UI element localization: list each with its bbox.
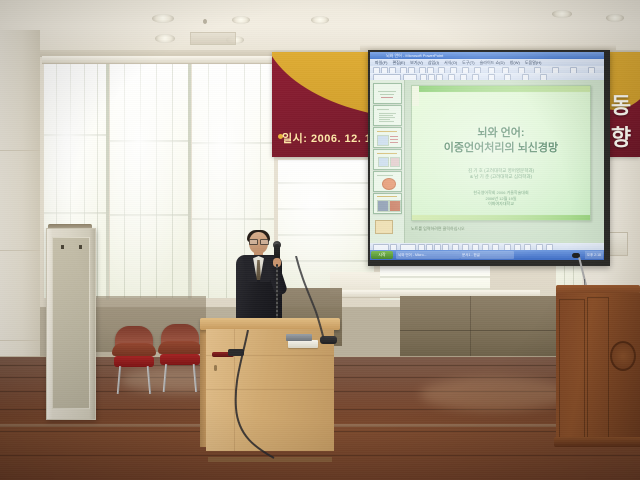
- ceiling-downlight-icon: [152, 14, 174, 23]
- windows-taskbar[interactable]: 시작 뇌와 언어 - Micro... 문서1 - 한글 오후 2:18: [370, 250, 604, 260]
- slide-design-band-top: [412, 86, 590, 92]
- menu-item-window[interactable]: 창(W): [510, 59, 520, 66]
- cabinet-door[interactable]: [52, 237, 90, 409]
- microphone-cable: [276, 264, 278, 324]
- banner-date-label: 일시:: [282, 133, 307, 145]
- slide-thumbnail[interactable]: [373, 149, 402, 170]
- thumbnail-brain-image: [389, 200, 401, 212]
- eyeglasses-icon: [260, 239, 269, 245]
- chair-leg: [193, 364, 197, 392]
- slide-meta-line3: 이화여자대학교: [412, 201, 590, 207]
- slide-authors: 김 기 호 (고려대학교 영어영문학과) & 남 기 춘 (고려대학교 심리학과…: [412, 168, 590, 180]
- banner-date: 일시: 2006. 12. 19: [282, 130, 378, 146]
- office-assistant-icon[interactable]: [375, 220, 393, 234]
- drawing-toolbar[interactable]: [370, 243, 604, 250]
- thumbnail-brain-image: [382, 178, 396, 190]
- wooden-podium: [556, 285, 640, 455]
- thumbnail-image: [377, 200, 389, 212]
- floor-cable: [222, 330, 282, 470]
- floor-reflection: [420, 377, 570, 411]
- menu-item-insert[interactable]: 삽입(I): [428, 59, 439, 66]
- slide-thumbnail[interactable]: [373, 193, 402, 214]
- window-valance: [42, 56, 276, 64]
- slide-author-line2: & 남 기 춘 (고려대학교 심리학과): [412, 174, 590, 180]
- slide-design-band-bottom: [412, 215, 590, 220]
- menu-item-tools[interactable]: 도구(T): [462, 59, 474, 66]
- podium-panel: [587, 297, 609, 441]
- ceiling-downlight-icon: [155, 34, 175, 43]
- current-slide[interactable]: 뇌와 언어: 이중언어처리의 뇌신경망 김 기 호 (고려대학교 영어영문학과)…: [411, 85, 591, 221]
- slide-title: 뇌와 언어: 이중언어처리의 뇌신경망: [412, 126, 590, 156]
- smoke-detector-icon: [203, 19, 207, 24]
- powerpoint-workspace: 1 2: [370, 80, 604, 243]
- wainscot-seam: [470, 296, 471, 358]
- chair-shoulder: [112, 343, 156, 356]
- podium-base: [554, 437, 640, 447]
- thumbnail-shape: [377, 135, 389, 146]
- cabinet-latch-icon[interactable]: [61, 245, 64, 249]
- chair-shoulder: [158, 341, 202, 354]
- taskbar-item-hangul[interactable]: 문서1 - 한글: [460, 251, 514, 259]
- wainscot-panel-right: [400, 296, 560, 358]
- slide-title-line1: 뇌와 언어:: [412, 126, 590, 141]
- cabinet-latch-icon[interactable]: [79, 245, 82, 249]
- slide-thumbnail[interactable]: [373, 105, 402, 126]
- projected-image: 뇌와 언어 - Microsoft PowerPoint 파일(F) 편집(E)…: [370, 52, 604, 260]
- powerpoint-menubar[interactable]: 파일(F) 편집(E) 보기(V) 삽입(I) 서식(O) 도구(T) 슬라이드…: [370, 59, 604, 66]
- slide-thumbnail-panel[interactable]: 1 2: [370, 80, 405, 243]
- window-left-2: [110, 62, 188, 298]
- chair-leg: [147, 366, 151, 394]
- start-button[interactable]: 시작: [371, 251, 393, 259]
- slide-conference-info: 한국영어학회 2006 겨울학술대회 2006년 12월 19일 이화여자대학교: [412, 190, 590, 207]
- ceiling-air-vent: [190, 32, 236, 45]
- projector-cable: [292, 256, 336, 342]
- podium-emblem-icon: [610, 341, 636, 371]
- podium-panel: [559, 299, 585, 439]
- thumbnail-shape: [390, 157, 400, 167]
- storage-cabinet: [46, 228, 96, 420]
- powerpoint-formatting-toolbar[interactable]: [370, 73, 604, 80]
- slide-thumbnail[interactable]: [373, 171, 402, 192]
- powerpoint-standard-toolbar[interactable]: [370, 66, 604, 73]
- chair-left: [112, 326, 156, 396]
- slide-edit-pane[interactable]: 뇌와 언어: 이중언어처리의 뇌신경망 김 기 호 (고려대학교 영어영문학과)…: [405, 80, 604, 243]
- slide-title-line2: 이중언어처리의 뇌신경망: [412, 141, 590, 156]
- wainscot-seam: [400, 330, 560, 331]
- taskbar-item-powerpoint[interactable]: 뇌와 언어 - Micro...: [396, 251, 460, 259]
- powerpoint-titlebar: 뇌와 언어 - Microsoft PowerPoint: [370, 52, 604, 59]
- menu-item-file[interactable]: 파일(F): [375, 59, 387, 66]
- thumbnail-shape: [378, 157, 389, 167]
- powerpoint-title-text: 뇌와 언어 - Microsoft PowerPoint: [386, 52, 443, 59]
- eyeglasses-icon: [249, 239, 258, 245]
- podium-front: [556, 293, 640, 443]
- menu-item-edit[interactable]: 편집(E): [392, 59, 405, 66]
- ceiling-downlight-icon: [232, 16, 250, 24]
- system-tray-clock[interactable]: 오후 2:18: [585, 251, 603, 259]
- chair-right: [158, 324, 202, 394]
- projection-screen: 뇌와 언어 - Microsoft PowerPoint 파일(F) 편집(E)…: [368, 50, 610, 266]
- menu-item-view[interactable]: 보기(V): [410, 59, 423, 66]
- ceiling-downlight-icon: [311, 16, 329, 24]
- ceiling-downlight-icon: [606, 14, 624, 22]
- menu-item-help[interactable]: 도움말(H): [525, 59, 542, 66]
- ceiling-downlight-icon: [552, 10, 572, 18]
- window-mullion: [188, 60, 191, 300]
- menu-item-format[interactable]: 서식(O): [444, 59, 457, 66]
- chair-leg: [117, 366, 121, 394]
- slide-thumbnail[interactable]: [373, 83, 402, 104]
- window-mullion: [106, 60, 109, 300]
- chair-leg: [163, 364, 167, 392]
- slide-thumbnail[interactable]: [373, 127, 402, 148]
- menu-item-slideshow[interactable]: 슬라이드 쇼(D): [480, 59, 505, 66]
- desk-drawer-handle[interactable]: [214, 365, 217, 371]
- lecture-hall-photo: 영어학 일시: 2006. 12. 19 대학 · 교과교육연구소 동향 뇌와 …: [0, 0, 640, 480]
- slide-design-band-left: [412, 86, 419, 106]
- notes-pane[interactable]: 노트를 입력하려면 클릭하십시오: [411, 226, 465, 232]
- presenter: [232, 232, 286, 328]
